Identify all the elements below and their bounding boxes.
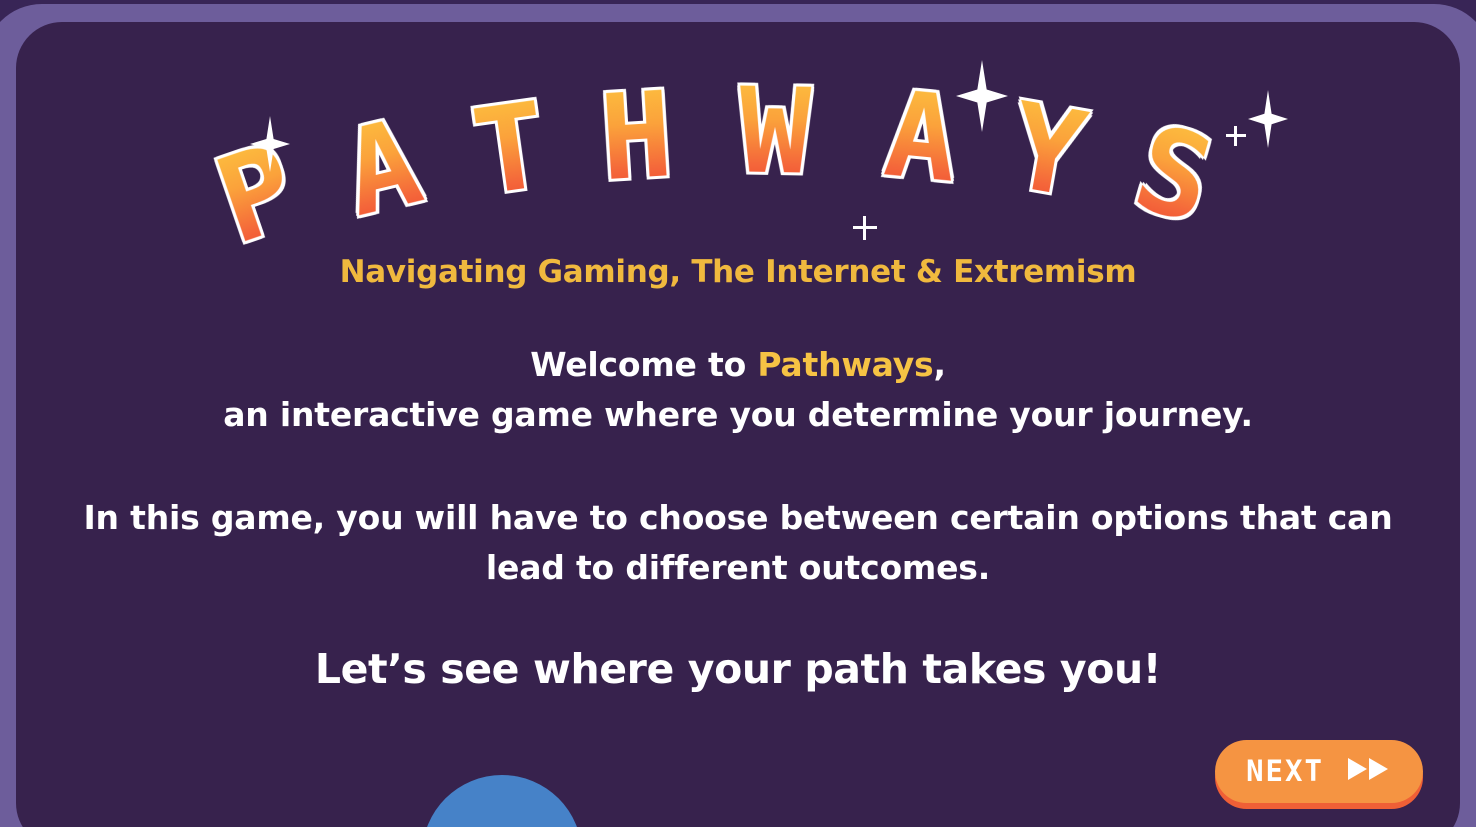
logo-area: P A T H W A Y S <box>16 68 1460 268</box>
welcome-paragraph: Welcome to Pathways, an interactive game… <box>16 340 1460 440</box>
game-window: P A T H W A Y S <box>0 0 1476 827</box>
decorative-blue-circle <box>422 775 582 827</box>
rules-paragraph: In this game, you will have to choose be… <box>83 493 1393 593</box>
logo-subtitle: Navigating Gaming, The Internet & Extrem… <box>16 254 1460 290</box>
logo-letter-h: H <box>597 75 675 197</box>
welcome-highlight: Pathways <box>757 345 933 384</box>
logo-letter-t: T <box>467 85 554 212</box>
sparkle-plus-icon-right <box>1226 126 1246 146</box>
fast-forward-icon <box>1346 755 1392 786</box>
closing-text: Let’s see where your path takes you! <box>315 645 1161 693</box>
sparkle-star-icon-top <box>956 60 1008 132</box>
closing-paragraph: Let’s see where your path takes you! <box>16 638 1460 700</box>
intro-copy: Welcome to Pathways, an interactive game… <box>16 340 1460 700</box>
next-button[interactable]: NEXT <box>1215 740 1423 803</box>
logo-letter-p: P <box>204 126 310 261</box>
pathways-logo: P A T H W A Y S <box>238 68 1238 258</box>
welcome-prefix: Welcome to <box>530 345 757 384</box>
subtitle-text: Navigating Gaming, The Internet & Extrem… <box>340 254 1137 290</box>
logo-letter-a1: A <box>334 102 431 233</box>
next-button-label: NEXT <box>1246 754 1324 788</box>
welcome-suffix: , <box>933 345 945 384</box>
welcome-line-2: an interactive game where you determine … <box>16 390 1460 440</box>
slide-panel: P A T H W A Y S <box>16 22 1460 827</box>
logo-letter-a2: A <box>880 74 962 198</box>
welcome-line-1: Welcome to Pathways, <box>16 340 1460 390</box>
logo-letter-w: W <box>738 71 811 190</box>
sparkle-star-icon-right <box>1248 90 1288 148</box>
logo-letter-y: Y <box>1003 86 1093 215</box>
sparkle-plus-icon-center <box>853 216 877 240</box>
logo-letter-s: S <box>1124 108 1225 241</box>
rules-text: In this game, you will have to choose be… <box>83 498 1392 587</box>
